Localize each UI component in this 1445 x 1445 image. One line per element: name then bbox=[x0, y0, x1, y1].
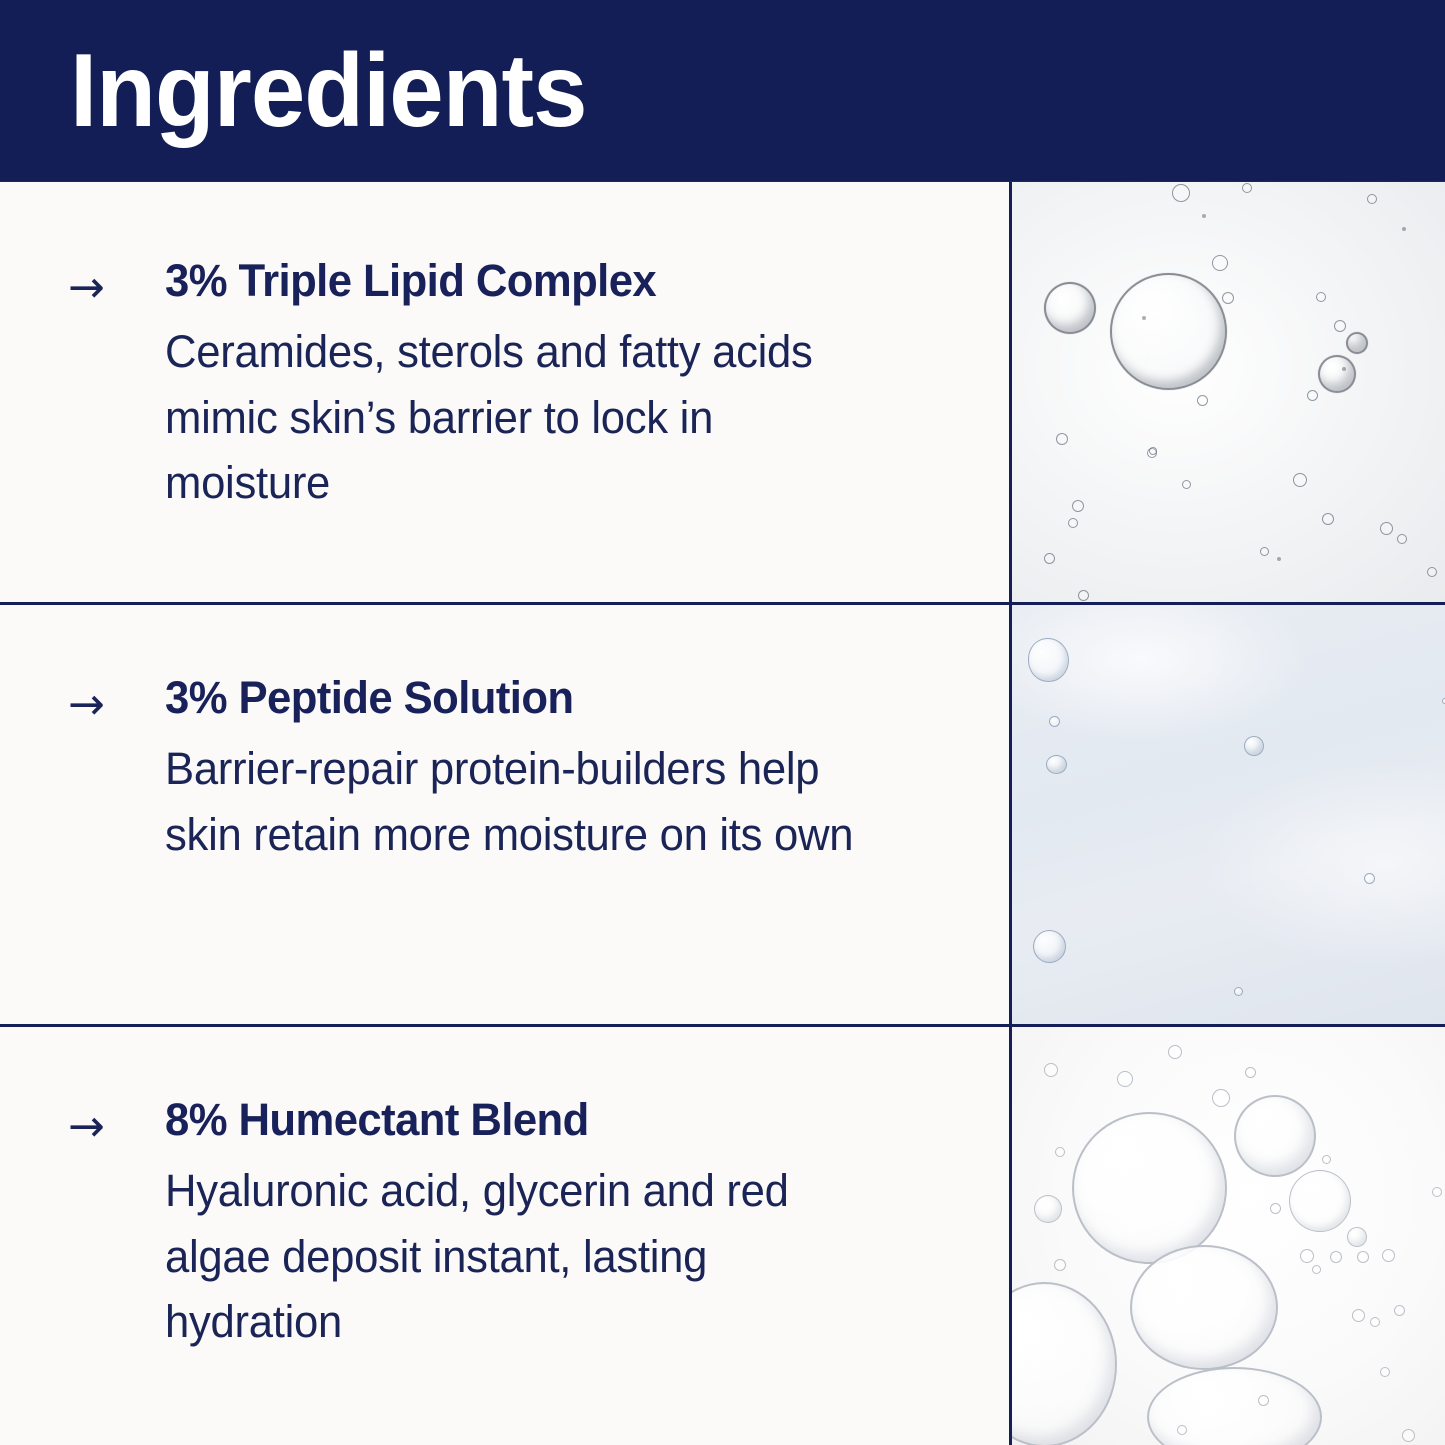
bubble bbox=[1432, 1187, 1442, 1197]
ingredient-description-2: Barrier-repair protein-builders help ski… bbox=[165, 736, 878, 867]
bubble bbox=[1307, 390, 1318, 401]
ingredient-image-3 bbox=[1012, 1027, 1445, 1445]
ingredient-title-3: 8% Humectant Blend bbox=[165, 1093, 945, 1146]
bubble bbox=[1202, 214, 1206, 218]
bubble bbox=[1334, 320, 1346, 332]
bubble bbox=[1342, 367, 1346, 371]
bubble bbox=[1402, 1429, 1415, 1442]
bubble bbox=[1289, 1170, 1351, 1232]
bubble bbox=[1318, 355, 1356, 393]
bubble bbox=[1347, 1227, 1367, 1247]
bubble bbox=[1044, 1063, 1058, 1077]
bubble bbox=[1367, 194, 1377, 204]
ingredient-image-1 bbox=[1012, 182, 1445, 605]
bubble bbox=[1402, 227, 1406, 231]
bubble bbox=[1072, 1112, 1227, 1264]
ingredient-image-2 bbox=[1012, 605, 1445, 1027]
bubble bbox=[1352, 1309, 1365, 1322]
bubble bbox=[1234, 987, 1243, 996]
bubble bbox=[1234, 1095, 1316, 1177]
arrow-right-icon: → bbox=[68, 1027, 165, 1355]
serum-texture-1 bbox=[1012, 182, 1445, 602]
ingredient-description-3: Hyaluronic acid, glycerin and red algae … bbox=[165, 1158, 878, 1355]
bubble bbox=[1197, 395, 1208, 406]
bubble bbox=[1312, 1265, 1321, 1274]
bubble bbox=[1270, 1203, 1281, 1214]
bubble bbox=[1212, 255, 1228, 271]
bubble bbox=[1322, 1155, 1331, 1164]
bubble bbox=[1182, 480, 1191, 489]
bubble bbox=[1110, 273, 1227, 390]
bubble bbox=[1244, 736, 1264, 756]
bubble bbox=[1300, 1249, 1314, 1263]
bubble bbox=[1397, 534, 1407, 544]
bubble bbox=[1316, 292, 1326, 302]
bubble bbox=[1072, 500, 1084, 512]
bubble bbox=[1370, 1317, 1380, 1327]
bubble bbox=[1130, 1245, 1278, 1370]
ingredient-row-2: → 3% Peptide Solution Barrier-repair pro… bbox=[0, 605, 1012, 1027]
bubble bbox=[1055, 1147, 1065, 1157]
bubble bbox=[1322, 513, 1334, 525]
page-title: Ingredients bbox=[70, 39, 587, 143]
bubble bbox=[1346, 332, 1368, 354]
bubble bbox=[1168, 1045, 1182, 1059]
serum-texture-2 bbox=[1012, 605, 1445, 1024]
bubble bbox=[1382, 1249, 1395, 1262]
ingredient-title-2: 3% Peptide Solution bbox=[165, 671, 945, 724]
bubble bbox=[1222, 292, 1234, 304]
bubble bbox=[1277, 557, 1281, 561]
bubble bbox=[1056, 433, 1068, 445]
bubble bbox=[1357, 1251, 1369, 1263]
ingredient-row-3: → 8% Humectant Blend Hyaluronic acid, gl… bbox=[0, 1027, 1012, 1445]
bubble bbox=[1260, 547, 1269, 556]
bubble bbox=[1149, 447, 1157, 455]
bubble bbox=[1033, 930, 1066, 963]
bubble bbox=[1258, 1395, 1269, 1406]
bubble bbox=[1380, 522, 1393, 535]
bubble bbox=[1044, 553, 1055, 564]
bubble bbox=[1049, 716, 1060, 727]
bubble bbox=[1380, 1367, 1390, 1377]
bubble bbox=[1245, 1067, 1256, 1078]
bubble bbox=[1054, 1259, 1066, 1271]
bubble bbox=[1034, 1195, 1062, 1223]
bubble bbox=[1212, 1089, 1230, 1107]
bubble bbox=[1177, 1425, 1187, 1435]
bubble bbox=[1330, 1251, 1342, 1263]
bubble bbox=[1028, 638, 1069, 682]
bubble bbox=[1242, 183, 1252, 193]
ingredient-title-1: 3% Triple Lipid Complex bbox=[165, 254, 945, 307]
bubble bbox=[1046, 755, 1067, 774]
arrow-right-icon: → bbox=[68, 605, 165, 867]
ingredients-panel: Ingredients → 3% Triple Lipid Complex Ce… bbox=[0, 0, 1445, 1445]
bubble bbox=[1427, 567, 1437, 577]
ingredients-grid: → 3% Triple Lipid Complex Ceramides, ste… bbox=[0, 182, 1445, 1445]
ingredient-row-1: → 3% Triple Lipid Complex Ceramides, ste… bbox=[0, 182, 1012, 605]
ingredient-description-1: Ceramides, sterols and fatty acids mimic… bbox=[165, 319, 878, 516]
bubble bbox=[1142, 316, 1146, 320]
bubble bbox=[1044, 282, 1096, 334]
bubble bbox=[1172, 184, 1190, 202]
bubble bbox=[1394, 1305, 1405, 1316]
bubble bbox=[1293, 473, 1307, 487]
arrow-right-icon: → bbox=[68, 182, 165, 516]
bubble bbox=[1068, 518, 1078, 528]
bubble bbox=[1364, 873, 1375, 884]
header-bar: Ingredients bbox=[0, 0, 1445, 182]
bubble bbox=[1078, 590, 1089, 601]
bubble bbox=[1117, 1071, 1133, 1087]
